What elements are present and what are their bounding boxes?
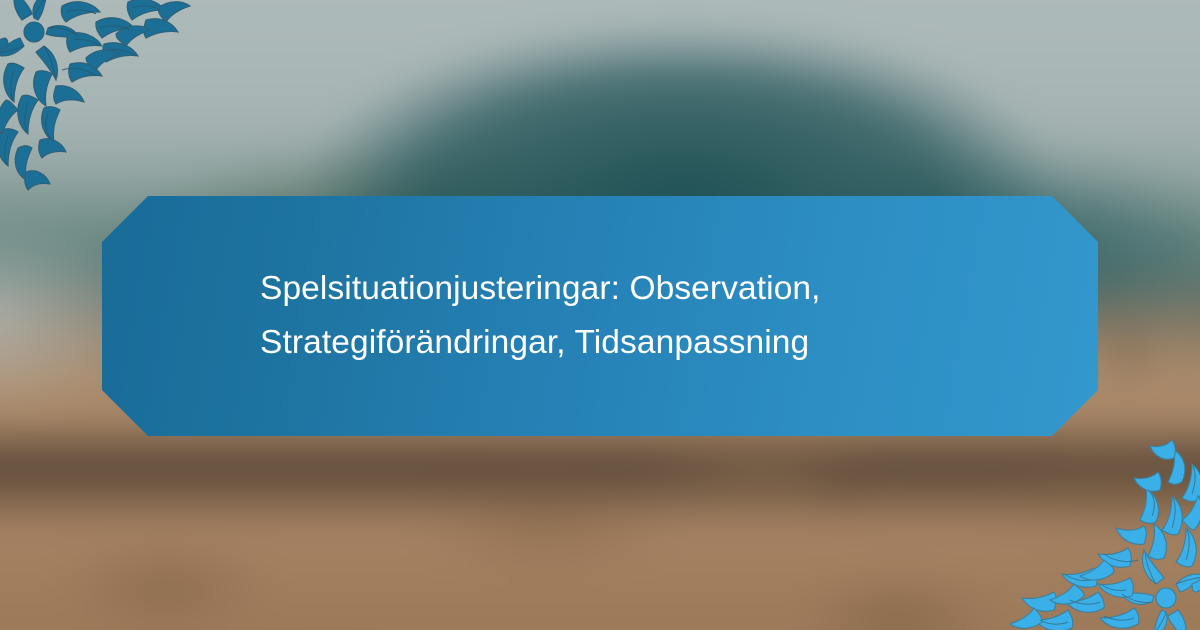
social-share-card: Spelsituationjusteringar: Observation, S… bbox=[0, 0, 1200, 630]
title-banner: Spelsituationjusteringar: Observation, S… bbox=[102, 196, 1098, 436]
page-title: Spelsituationjusteringar: Observation, S… bbox=[260, 262, 940, 371]
